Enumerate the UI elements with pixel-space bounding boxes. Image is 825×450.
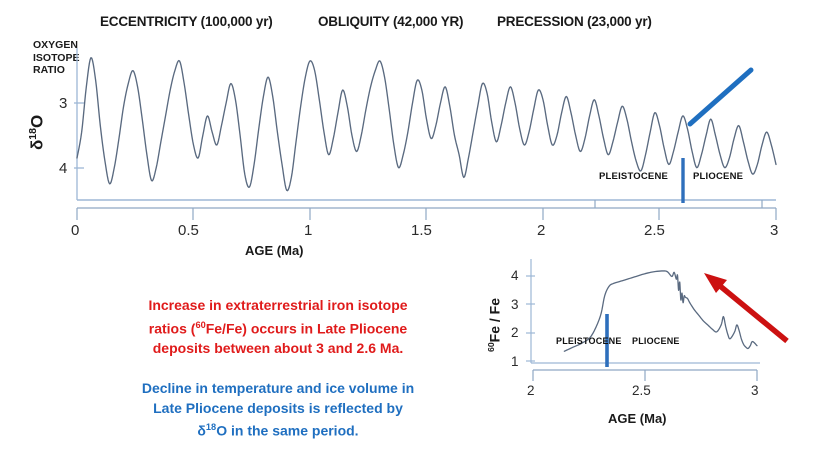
inset-x-axis-title: AGE (Ma) — [608, 411, 667, 426]
inset-epoch-label-pliocene: PLIOCENE — [632, 336, 680, 346]
inset-epoch-label-pleistocene: PLEISTOCENE — [556, 336, 622, 346]
inset-x-tick-2: 2 — [527, 383, 535, 398]
inset-iron60-chart: 60Fe / Fe 1 2 3 4 — [0, 0, 825, 450]
inset-chart-plot — [0, 0, 825, 450]
inset-x-tickmarks — [533, 370, 757, 381]
figure-root: ECCENTRICITY (100,000 yr) OBLIQUITY (42,… — [0, 0, 825, 450]
inset-x-tick-3: 3 — [751, 383, 759, 398]
red-trend-arrow — [704, 273, 787, 341]
inset-x-tick-2-5: 2.5 — [632, 383, 651, 398]
